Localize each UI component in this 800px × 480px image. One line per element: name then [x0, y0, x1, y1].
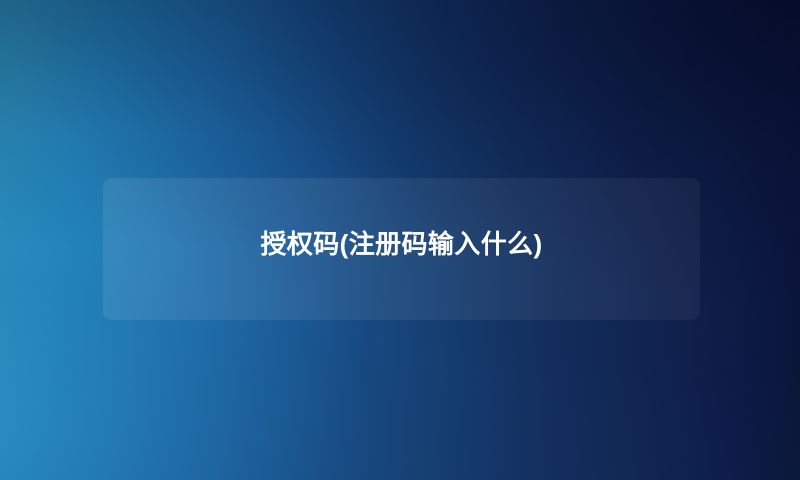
page-title: 授权码(注册码输入什么): [260, 229, 542, 260]
title-card: 授权码(注册码输入什么): [103, 178, 700, 320]
banner-image: 授权码(注册码输入什么): [0, 0, 800, 480]
